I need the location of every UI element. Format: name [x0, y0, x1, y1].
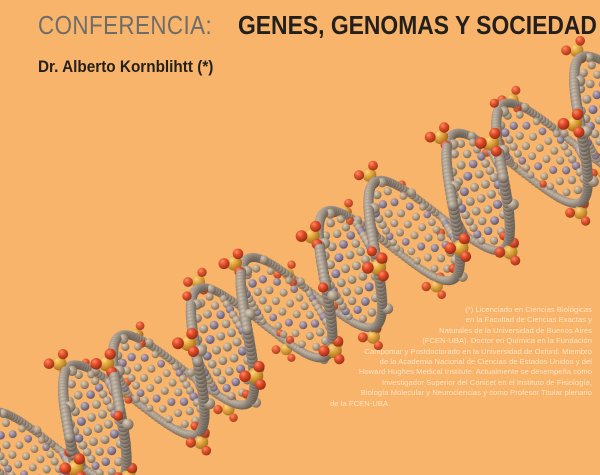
- oxygen-atom: [63, 467, 72, 475]
- backbone-atom: [91, 368, 99, 376]
- backbone-atom: [0, 407, 1, 416]
- carbon-atom: [378, 221, 386, 229]
- backbone-atom: [505, 219, 516, 230]
- nitrogen-atom: [329, 286, 338, 295]
- backbone-atom: [248, 365, 259, 376]
- carbon-atom: [108, 468, 116, 475]
- backbone-atom: [257, 318, 265, 326]
- nitrogen-atom: [238, 326, 247, 335]
- backbone-atom: [195, 378, 203, 386]
- backbone-atom: [443, 136, 453, 146]
- backbone-atom: [199, 283, 208, 292]
- oxygen-atom: [183, 277, 193, 287]
- backbone-atom: [58, 374, 68, 384]
- backbone-atom: [119, 434, 130, 445]
- backbone-atom: [487, 145, 495, 153]
- oxygen-atom: [228, 396, 237, 405]
- backbone-atom: [153, 414, 161, 422]
- carbon-atom: [227, 397, 236, 406]
- oxygen-atom: [296, 230, 308, 242]
- carbon-atom: [285, 277, 293, 285]
- backbone-atom: [188, 372, 196, 380]
- carbon-atom: [319, 355, 328, 364]
- backbone-atom: [114, 332, 124, 342]
- backbone-atom: [241, 320, 252, 331]
- carbon-atom: [145, 338, 154, 347]
- backbone-atom: [451, 221, 462, 232]
- carbon-atom: [264, 305, 272, 313]
- nitrogen-atom: [141, 354, 149, 362]
- backbone-atom: [74, 361, 83, 370]
- carbon-atom: [70, 427, 79, 436]
- backbone-atom: [308, 352, 317, 361]
- carbon-atom: [22, 452, 30, 460]
- backbone-atom: [181, 367, 189, 375]
- nitrogen-atom: [489, 150, 497, 158]
- backbone-atom: [443, 138, 453, 148]
- backbone-atom: [367, 180, 377, 190]
- backbone-atom: [499, 99, 508, 108]
- carbon-atom: [489, 245, 498, 254]
- nitrogen-atom: [334, 253, 343, 262]
- oxygen-atom: [0, 410, 1, 419]
- backbone-atom: [181, 430, 190, 439]
- oxygen-atom: [437, 228, 446, 237]
- backbone-atom: [192, 352, 203, 363]
- nitrogen-atom: [562, 166, 570, 174]
- backbone-atom: [571, 95, 582, 106]
- oxygen-atom: [362, 262, 374, 274]
- backbone-atom: [274, 331, 282, 339]
- backbone-atom: [275, 265, 283, 273]
- backbone-atom: [365, 220, 376, 231]
- backbone-atom: [168, 357, 176, 365]
- carbon-atom: [371, 271, 380, 280]
- nitrogen-atom: [477, 152, 485, 160]
- carbon-atom: [193, 398, 202, 407]
- oxygen-atom: [579, 198, 589, 208]
- backbone-atom: [260, 321, 268, 329]
- backbone-atom: [576, 53, 586, 63]
- phosphorus-atom: [339, 206, 351, 218]
- carbon-atom: [389, 239, 397, 247]
- backbone-atom: [313, 227, 323, 237]
- oxygen-atom: [490, 99, 499, 108]
- carbon-atom: [301, 302, 309, 310]
- carbon-atom: [346, 251, 355, 260]
- backbone-atom: [441, 157, 452, 168]
- carbon-atom: [2, 419, 10, 427]
- backbone-atom: [455, 227, 463, 235]
- carbon-atom: [229, 310, 238, 319]
- backbone-atom: [315, 215, 325, 225]
- title-headline: GENES, GENOMAS Y SOCIEDAD: [238, 12, 597, 38]
- backbone-atom: [109, 372, 120, 383]
- carbon-atom: [94, 424, 103, 433]
- backbone-atom: [453, 233, 464, 244]
- backbone-atom: [87, 469, 95, 475]
- nitrogen-atom: [417, 243, 425, 251]
- nitrogen-atom: [586, 122, 595, 131]
- carbon-atom: [453, 239, 462, 248]
- backbone-atom: [187, 431, 196, 440]
- backbone-atom: [520, 170, 528, 178]
- backbone-atom: [364, 208, 375, 219]
- nitrogen-atom: [210, 384, 218, 392]
- backbone-atom: [493, 149, 501, 157]
- backbone-atom: [117, 421, 128, 432]
- backbone-atom: [199, 407, 209, 417]
- backbone-atom: [503, 238, 513, 248]
- backbone-atom: [446, 132, 456, 142]
- nitrogen-atom: [494, 180, 503, 189]
- backbone-atom: [363, 196, 373, 206]
- nitrogen-atom: [61, 453, 69, 461]
- backbone-atom: [558, 131, 566, 139]
- carbon-atom: [206, 285, 215, 294]
- backbone-atom: [0, 409, 9, 418]
- nitrogen-atom: [91, 462, 99, 470]
- backbone-atom: [373, 176, 382, 185]
- carbon-atom: [132, 382, 140, 390]
- backbone-atom: [442, 142, 452, 152]
- backbone-atom: [549, 191, 557, 199]
- backbone-atom: [236, 272, 246, 282]
- backbone-atom: [448, 204, 459, 215]
- backbone-atom: [375, 278, 386, 289]
- backbone-atom: [144, 407, 152, 415]
- backbone-atom: [499, 181, 510, 192]
- backbone-atom: [319, 353, 328, 362]
- backbone-atom: [419, 266, 427, 274]
- carbon-atom: [373, 191, 382, 200]
- backbone-atom: [60, 368, 70, 378]
- backbone-atom: [367, 232, 378, 243]
- oxygen-atom: [276, 329, 283, 336]
- backbone-atom: [266, 259, 274, 267]
- backbone-atom: [442, 168, 453, 179]
- carbon-atom: [369, 226, 378, 235]
- carbon-atom: [47, 451, 55, 459]
- carbon-atom: [87, 371, 95, 379]
- carbon-atom: [322, 275, 332, 285]
- backbone-atom: [594, 55, 600, 64]
- backbone-atom: [446, 276, 455, 285]
- backbone-atom: [458, 229, 466, 237]
- backbone-atom: [249, 384, 259, 394]
- carbon-atom: [154, 376, 162, 384]
- backbone-atom: [5, 411, 14, 420]
- nitrogen-atom: [86, 390, 95, 399]
- carbon-atom: [238, 305, 246, 313]
- carbon-atom: [490, 173, 499, 182]
- backbone-atom: [454, 265, 464, 275]
- backbone-atom: [454, 267, 464, 277]
- backbone-atom: [94, 370, 102, 378]
- backbone-atom: [443, 276, 452, 285]
- oxygen-atom: [186, 328, 197, 339]
- backbone-atom: [161, 352, 169, 360]
- backbone-atom: [318, 297, 326, 305]
- backbone-atom: [110, 337, 120, 347]
- carbon-atom: [529, 133, 537, 141]
- oxygen-atom: [44, 358, 55, 369]
- oxygen-atom: [499, 231, 508, 240]
- nitrogen-atom: [210, 321, 219, 330]
- backbone-atom: [335, 208, 344, 217]
- carbon-atom: [259, 318, 266, 325]
- oxygen-atom: [199, 286, 208, 295]
- nitrogen-atom: [107, 382, 115, 390]
- carbon-atom: [498, 187, 507, 196]
- backbone-atom: [428, 206, 436, 214]
- carbon-atom: [359, 231, 367, 239]
- nitrogen-atom: [501, 128, 510, 137]
- carbon-atom: [461, 211, 470, 220]
- nitrogen-atom: [572, 162, 581, 171]
- carbon-atom: [314, 304, 322, 312]
- backbone-atom: [192, 430, 201, 439]
- backbone-atom: [577, 133, 588, 144]
- carbon-atom: [30, 445, 38, 453]
- backbone-atom: [442, 164, 453, 175]
- backbone-atom: [193, 429, 202, 438]
- backbone-atom: [64, 362, 74, 372]
- carbon-atom: [195, 380, 203, 388]
- backbone-atom: [443, 171, 454, 182]
- backbone-atom: [241, 256, 251, 266]
- oxygen-atom: [272, 345, 281, 354]
- backbone-atom: [455, 254, 465, 264]
- backbone-atom: [243, 308, 251, 316]
- backbone-atom: [450, 273, 460, 283]
- carbon-atom: [66, 420, 75, 429]
- carbon-atom: [0, 458, 8, 466]
- carbon-atom: [159, 405, 167, 413]
- oxygen-atom: [136, 321, 145, 330]
- backbone-atom: [130, 396, 138, 404]
- backbone-atom: [566, 198, 575, 207]
- backbone-atom: [113, 396, 124, 407]
- nitrogen-atom: [442, 220, 450, 228]
- nitrogen-atom: [494, 160, 503, 169]
- backbone-atom: [400, 253, 408, 261]
- oxygen-atom: [137, 339, 145, 347]
- backbone-atom: [494, 246, 503, 255]
- backbone-atom: [188, 327, 199, 338]
- backbone-atom: [145, 341, 153, 349]
- backbone-atom: [278, 267, 286, 275]
- backbone-atom: [507, 159, 515, 167]
- backbone-atom: [504, 209, 515, 220]
- carbon-atom: [587, 145, 595, 153]
- backbone-atom: [108, 354, 119, 365]
- backbone-atom: [247, 395, 257, 405]
- backbone-atom: [253, 315, 261, 323]
- backbone-atom: [408, 191, 416, 199]
- oxygen-atom: [511, 86, 520, 95]
- carbon-atom: [433, 226, 441, 234]
- carbon-atom: [355, 224, 363, 232]
- phosphorus-atom: [247, 368, 263, 384]
- backbone-atom: [370, 177, 380, 187]
- carbon-atom: [238, 388, 247, 397]
- backbone-atom: [198, 389, 209, 400]
- nitrogen-atom: [473, 230, 481, 238]
- backbone-atom: [236, 400, 245, 409]
- backbone-atom: [422, 268, 430, 276]
- carbon-atom: [68, 445, 77, 454]
- backbone-atom: [470, 237, 478, 245]
- oxygen-atom: [59, 463, 71, 475]
- carbon-atom: [293, 310, 301, 318]
- backbone-atom: [321, 207, 330, 216]
- backbone-atom: [404, 256, 412, 264]
- backbone-atom: [579, 145, 590, 156]
- backbone-atom: [242, 324, 253, 335]
- carbon-atom: [469, 139, 477, 147]
- carbon-atom: [505, 135, 513, 143]
- backbone-atom: [498, 245, 507, 254]
- carbon-atom: [411, 231, 419, 239]
- backbone-atom: [301, 349, 310, 358]
- nitrogen-atom: [589, 105, 598, 114]
- phosphorus-atom: [445, 226, 457, 238]
- carbon-atom: [371, 230, 379, 238]
- backbone-atom: [368, 240, 379, 251]
- backbone-atom: [570, 199, 579, 208]
- backbone-atom: [108, 346, 118, 356]
- backbone-atom: [28, 425, 36, 433]
- backbone-atom: [441, 276, 450, 285]
- backbone-atom: [582, 165, 593, 176]
- backbone-atom: [75, 460, 83, 468]
- backbone-atom: [574, 55, 584, 65]
- backbone-atom: [205, 385, 213, 393]
- backbone-atom: [448, 275, 457, 284]
- carbon-atom: [204, 398, 215, 409]
- backbone-atom: [576, 129, 587, 140]
- backbone-atom: [328, 206, 337, 215]
- backbone-atom: [127, 393, 135, 401]
- backbone-atom: [576, 124, 587, 135]
- oxygen-atom: [572, 118, 582, 128]
- backbone-atom: [377, 235, 385, 243]
- carbon-atom: [536, 144, 544, 152]
- backbone-atom: [194, 428, 204, 438]
- backbone-atom: [283, 338, 291, 346]
- carbon-atom: [465, 217, 474, 226]
- backbone-atom: [0, 408, 6, 417]
- phosphorus-atom: [222, 403, 235, 416]
- carbon-atom: [211, 302, 219, 310]
- oxygen-atom: [346, 217, 354, 225]
- backbone-atom: [569, 66, 579, 76]
- backbone-atom: [233, 300, 241, 308]
- carbon-atom: [193, 335, 202, 344]
- backbone-atom: [445, 276, 454, 285]
- carbon-atom: [418, 223, 426, 231]
- oxygen-atom: [188, 346, 199, 357]
- backbone-atom: [147, 409, 155, 417]
- carbon-atom: [80, 381, 89, 390]
- backbone-atom: [442, 216, 450, 224]
- backbone-atom: [351, 216, 359, 224]
- carbon-atom: [316, 328, 325, 337]
- backbone-atom: [131, 333, 140, 342]
- backbone-atom: [442, 160, 453, 171]
- carbon-atom: [337, 215, 345, 223]
- backbone-atom: [237, 296, 248, 307]
- backbone-atom: [498, 100, 508, 110]
- oxygen-atom: [452, 237, 460, 245]
- nitrogen-atom: [127, 353, 135, 361]
- carbon-atom: [208, 360, 217, 369]
- carbon-atom: [2, 441, 10, 449]
- carbon-atom: [207, 380, 215, 388]
- phosphorus-atom: [194, 435, 208, 449]
- nitrogen-atom: [557, 136, 565, 144]
- backbone-atom: [186, 300, 196, 310]
- backbone-atom: [314, 217, 324, 227]
- oxygen-atom: [561, 45, 571, 55]
- backbone-atom: [119, 471, 129, 475]
- carbon-atom: [384, 210, 392, 218]
- backbone-atom: [111, 335, 121, 345]
- backbone-atom: [306, 351, 315, 360]
- backbone-atom: [0, 471, 8, 475]
- backbone-atom: [497, 168, 508, 179]
- carbon-atom: [581, 114, 590, 123]
- backbone-atom: [363, 193, 373, 203]
- carbon-atom: [193, 377, 200, 384]
- backbone-atom: [264, 323, 272, 331]
- backbone-atom: [116, 386, 124, 394]
- backbone-atom: [495, 246, 504, 255]
- backbone-atom: [386, 178, 395, 187]
- backbone-atom: [295, 346, 303, 354]
- phosphorus-atom: [67, 460, 83, 475]
- carbon-atom: [446, 226, 454, 234]
- backbone-atom: [579, 146, 587, 154]
- backbone-atom: [234, 400, 243, 409]
- backbone-atom: [59, 396, 70, 407]
- backbone-atom: [315, 251, 326, 262]
- carbon-atom: [560, 129, 568, 137]
- backbone-atom: [495, 156, 506, 167]
- nitrogen-atom: [189, 392, 198, 401]
- carbon-atom: [473, 145, 481, 153]
- backbone-atom: [377, 292, 388, 303]
- oxygen-atom: [200, 428, 210, 438]
- backbone-atom: [238, 303, 249, 314]
- backbone-atom: [508, 99, 517, 108]
- carbon-atom: [594, 155, 600, 163]
- backbone-atom: [575, 120, 586, 131]
- backbone-atom: [112, 388, 123, 399]
- carbon-atom: [358, 272, 367, 281]
- backbone-atom: [571, 59, 581, 69]
- backbone-atom: [218, 290, 226, 298]
- backbone-atom: [119, 430, 130, 441]
- backbone-atom: [191, 285, 201, 295]
- carbon-atom: [223, 300, 231, 308]
- carbon-atom: [187, 369, 195, 377]
- backbone-atom: [454, 244, 465, 255]
- oxygen-atom: [213, 405, 222, 414]
- carbon-atom: [126, 464, 137, 475]
- backbone-atom: [312, 353, 321, 362]
